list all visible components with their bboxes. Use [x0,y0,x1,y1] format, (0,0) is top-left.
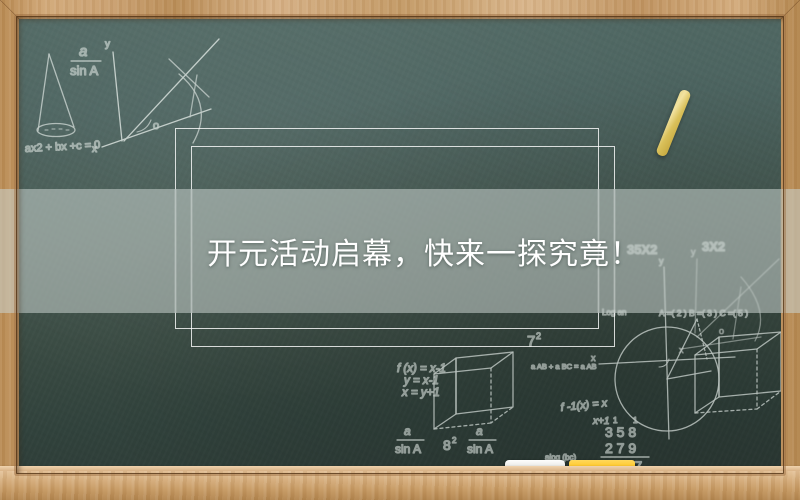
chalkboard-banner: a sin A ax2 + bx +c = 0 y x [0,0,800,500]
chalk-ledge [0,471,800,500]
frame-bevel [16,16,784,474]
